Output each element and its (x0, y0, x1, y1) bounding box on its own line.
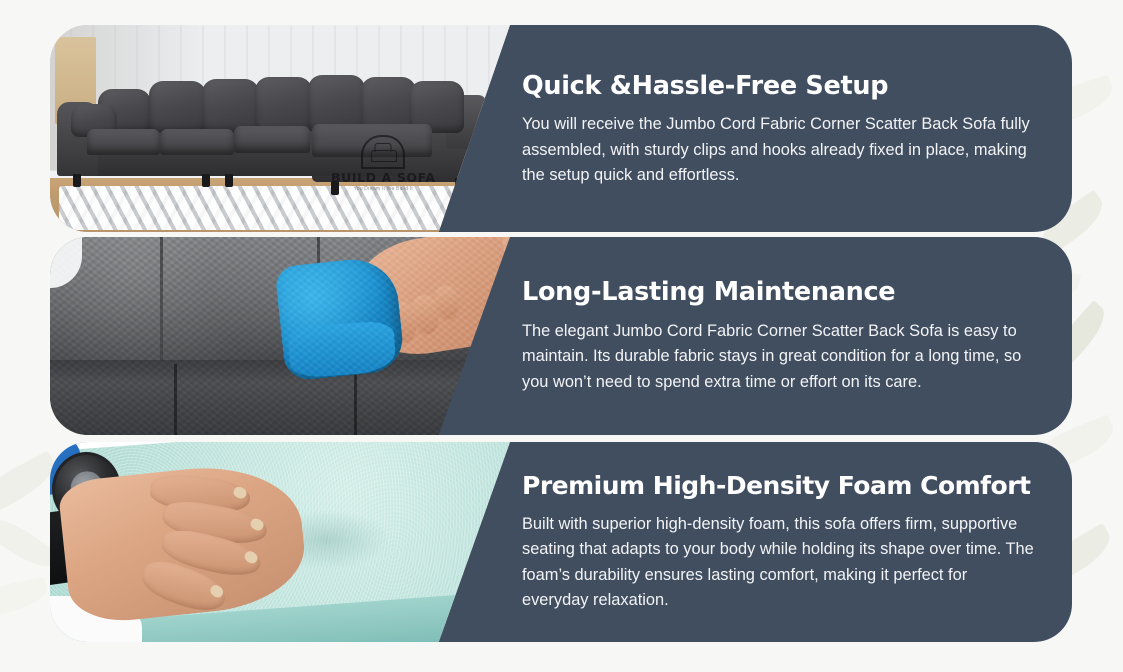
feature-body: The elegant Jumbo Cord Fabric Corner Sca… (522, 319, 1042, 396)
feature-card-list: BUILD A SOFA You Dream It We Build It Qu… (50, 25, 1072, 642)
scatter-cushion (202, 79, 260, 133)
feature-heading: Premium High-Density Foam Comfort (522, 472, 1052, 501)
seat-cushion (234, 126, 310, 153)
scatter-cushion (255, 77, 313, 133)
corner-sofa (50, 25, 510, 232)
feature-card-long-lasting-maintenance: Long-Lasting Maintenance The elegant Jum… (50, 237, 1072, 435)
scatter-cushion (149, 81, 207, 133)
feature-body: You will receive the Jumbo Cord Fabric C… (522, 112, 1034, 189)
feature-image-quick-setup: BUILD A SOFA You Dream It We Build It (50, 25, 510, 232)
feature-image-long-lasting-maintenance (50, 237, 510, 435)
fingernail (232, 485, 248, 500)
watermark-tagline: You Dream It We Build It (328, 186, 438, 192)
room-scene: BUILD A SOFA You Dream It We Build It (50, 25, 510, 232)
brand-watermark: BUILD A SOFA You Dream It We Build It (328, 135, 438, 193)
fingernail (249, 516, 266, 532)
feature-card-premium-foam-comfort: Premium High-Density Foam Comfort Built … (50, 442, 1072, 642)
foam-scene (50, 442, 510, 642)
seat-cushion (87, 129, 161, 156)
feature-heading: Quick &Hassle-Free Setup (522, 72, 1052, 101)
sofa-leg (455, 178, 463, 191)
feature-heading: Long-Lasting Maintenance (522, 278, 1052, 307)
sofa-leg (202, 174, 210, 187)
sofa-leg (73, 174, 81, 187)
feature-card-quick-setup: BUILD A SOFA You Dream It We Build It Qu… (50, 25, 1072, 232)
feature-copy-quick-setup: Quick &Hassle-Free Setup You will receiv… (522, 25, 1052, 232)
feature-copy-long-lasting-maintenance: Long-Lasting Maintenance The elegant Jum… (522, 237, 1052, 435)
sofa-cleaning-scene (50, 237, 510, 435)
fingernail (208, 583, 225, 600)
watermark-brand: BUILD A SOFA (328, 172, 438, 185)
feature-image-premium-foam-comfort (50, 442, 510, 642)
feature-copy-premium-foam-comfort: Premium High-Density Foam Comfort Built … (522, 442, 1052, 642)
sofa-leg (225, 174, 233, 187)
sofa-logo-icon (361, 135, 405, 169)
seat-cushion (160, 129, 234, 156)
fabric-texture (50, 237, 510, 435)
fingernail (243, 549, 260, 565)
feature-body: Built with superior high-density foam, t… (522, 512, 1034, 614)
